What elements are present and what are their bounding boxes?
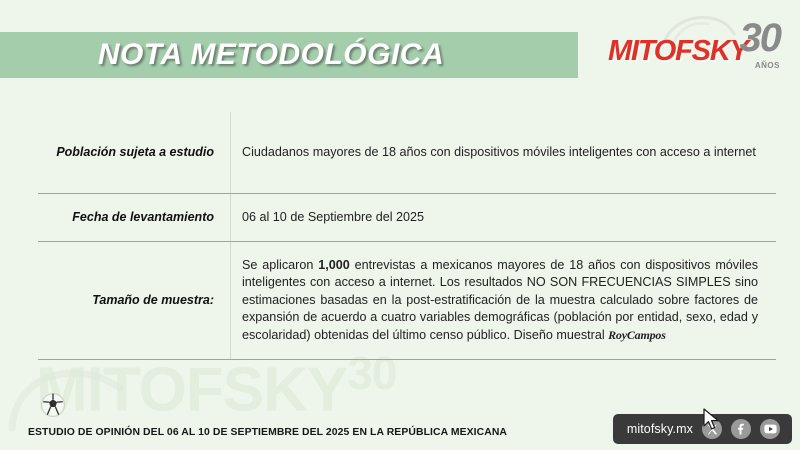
page-header: NOTA METODOLÓGICA MITOFSKY 30 AÑOS bbox=[0, 0, 800, 100]
row-label-fecha: Fecha de levantamiento bbox=[38, 209, 230, 225]
facebook-icon[interactable] bbox=[731, 419, 751, 439]
footer-social-bar: mitofsky.mx bbox=[613, 414, 792, 444]
row-value-tamano: Se aplicaron 1,000 entrevistas a mexican… bbox=[230, 257, 776, 344]
row-label-poblacion: Población sujeta a estudio bbox=[38, 144, 230, 160]
website-url[interactable]: mitofsky.mx bbox=[627, 422, 693, 436]
roy-campos-signature: RoyCampos bbox=[608, 328, 666, 342]
table-row: Tamaño de muestra: Se aplicaron 1,000 en… bbox=[38, 242, 776, 360]
row-value-fecha: 06 al 10 de Septiembre del 2025 bbox=[230, 209, 776, 226]
soccer-ball-icon bbox=[40, 392, 66, 418]
row-label-tamano: Tamaño de muestra: bbox=[38, 292, 230, 308]
row-value-poblacion: Ciudadanos mayores de 18 años con dispos… bbox=[230, 144, 776, 161]
mitofsky-logo: MITOFSKY 30 AÑOS bbox=[608, 14, 784, 78]
title-banner: NOTA METODOLÓGICA bbox=[0, 32, 578, 78]
x-twitter-icon[interactable] bbox=[702, 419, 722, 439]
table-row: Población sujeta a estudio Ciudadanos ma… bbox=[38, 112, 776, 194]
methodology-table: Población sujeta a estudio Ciudadanos ma… bbox=[38, 112, 776, 360]
logo-anniversary-label: AÑOS bbox=[755, 61, 780, 70]
logo-wordmark: MITOFSKY bbox=[608, 35, 748, 68]
youtube-icon[interactable] bbox=[760, 419, 780, 439]
table-row: Fecha de levantamiento 06 al 10 de Septi… bbox=[38, 194, 776, 242]
logo-anniversary-number: 30 bbox=[740, 18, 781, 58]
swoosh-decoration bbox=[8, 362, 128, 432]
sample-size-value: 1,000 bbox=[318, 258, 350, 272]
sample-text-lead: Se aplicaron bbox=[242, 258, 318, 272]
study-caption: ESTUDIO DE OPINIÓN DEL 06 AL 10 DE SEPTI… bbox=[28, 427, 507, 438]
page-title: NOTA METODOLÓGICA bbox=[0, 32, 578, 78]
